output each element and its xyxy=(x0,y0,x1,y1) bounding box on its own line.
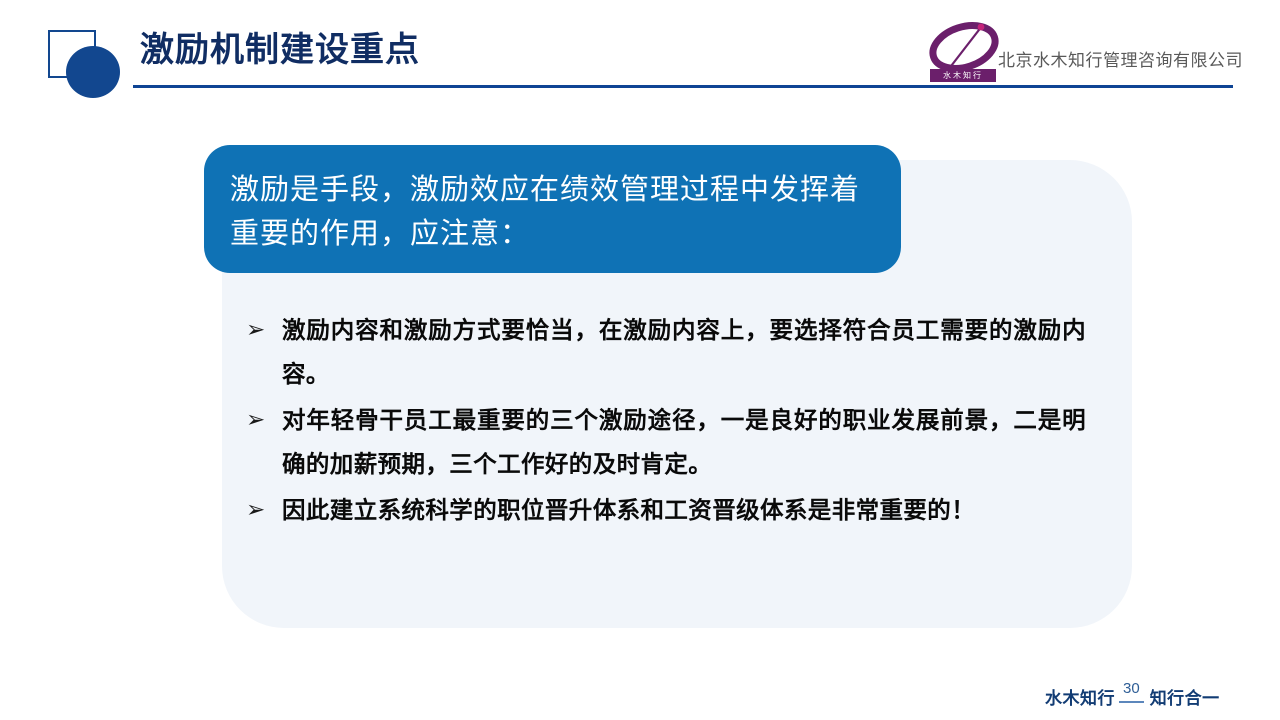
company-name: 北京水木知行管理咨询有限公司 xyxy=(998,46,1243,71)
page-number: 30 xyxy=(1119,678,1144,700)
list-item: ➢ 因此建立系统科学的职位晋升体系和工资晋级体系是非常重要的！ xyxy=(246,488,1086,532)
slide-canvas: 激励机制建设重点 水木知行 北京水木知行管理咨询有限公司 激励是手段，激励效应在… xyxy=(0,0,1280,720)
arrow-bullet-icon: ➢ xyxy=(246,308,282,352)
callout-text: 激励是手段，激励效应在绩效管理过程中发挥着重要的作用，应注意： xyxy=(230,167,873,255)
list-item-text: 对年轻骨干员工最重要的三个激励途径，一是良好的职业发展前景，二是明确的加薪预期，… xyxy=(282,398,1086,486)
footer-motto: 知行合一 xyxy=(1150,688,1220,710)
callout-box: 激励是手段，激励效应在绩效管理过程中发挥着重要的作用，应注意： xyxy=(204,145,901,273)
bullet-list: ➢ 激励内容和激励方式要恰当，在激励内容上，要选择符合员工需要的激励内容。 ➢ … xyxy=(246,308,1086,534)
page-title: 激励机制建设重点 xyxy=(140,30,420,71)
brand-logo-block: 水木知行 北京水木知行管理咨询有限公司 xyxy=(922,20,1236,82)
slide-footer: 水木知行 30 知行合一 xyxy=(1045,678,1245,710)
arrow-bullet-icon: ➢ xyxy=(246,398,282,442)
list-item-text: 激励内容和激励方式要恰当，在激励内容上，要选择符合员工需要的激励内容。 xyxy=(282,308,1086,396)
filled-circle-icon xyxy=(66,46,120,98)
list-item-text: 因此建立系统科学的职位晋升体系和工资晋级体系是非常重要的！ xyxy=(282,488,1086,532)
logo-banner-label: 水木知行 xyxy=(930,69,996,82)
footer-brand: 水木知行 xyxy=(1045,688,1115,710)
arrow-bullet-icon: ➢ xyxy=(246,488,282,532)
title-divider xyxy=(133,85,1233,88)
header-decoration xyxy=(48,30,128,96)
list-item: ➢ 对年轻骨干员工最重要的三个激励途径，一是良好的职业发展前景，二是明确的加薪预… xyxy=(246,398,1086,486)
list-item: ➢ 激励内容和激励方式要恰当，在激励内容上，要选择符合员工需要的激励内容。 xyxy=(246,308,1086,396)
